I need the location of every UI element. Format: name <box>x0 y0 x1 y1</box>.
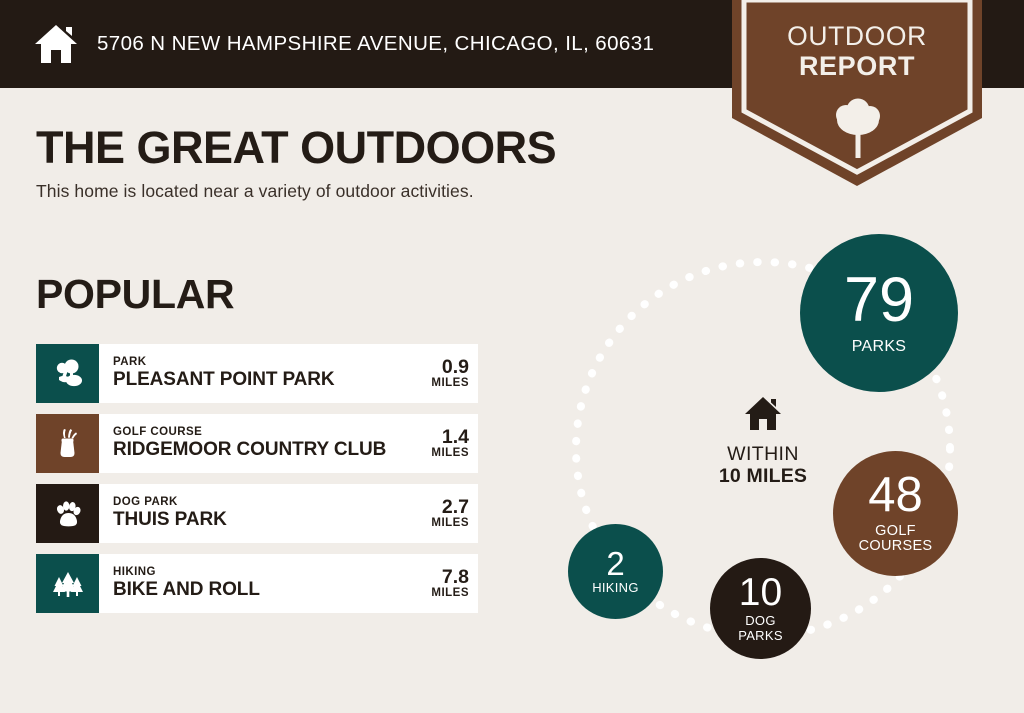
bubble-label-line1: GOLF <box>859 524 933 540</box>
list-item[interactable]: DOG PARK THUIS PARK 2.7 MILES <box>36 484 478 543</box>
bubble-label: GOLF COURSES <box>859 524 933 555</box>
bubble-hiking[interactable]: 2 HIKING <box>568 524 663 619</box>
list-item-distance: 7.8 MILES <box>409 567 469 600</box>
page-title: THE GREAT OUTDOORS <box>36 124 696 171</box>
intro-block: THE GREAT OUTDOORS This home is located … <box>36 124 696 202</box>
home-icon <box>743 394 783 432</box>
park-trees-icon <box>36 344 99 403</box>
list-item[interactable]: HIKING BIKE AND ROLL 7.8 MILES <box>36 554 478 613</box>
distance-value: 7.8 <box>415 567 469 587</box>
list-item-body: HIKING BIKE AND ROLL 7.8 MILES <box>99 554 478 613</box>
bubble-value: 10 <box>739 574 782 611</box>
bubble-value: 79 <box>844 271 914 331</box>
popular-list: PARK PLEASANT POINT PARK 0.9 MILES <box>36 344 478 624</box>
list-item-category: PARK <box>113 356 335 369</box>
popular-heading: POPULAR <box>36 271 234 318</box>
distance-value: 1.4 <box>415 427 469 447</box>
bubble-label: PARKS <box>852 338 907 355</box>
list-item-labels: PARK PLEASANT POINT PARK <box>113 356 335 391</box>
golf-bag-icon <box>36 414 99 473</box>
list-item-body: GOLF COURSE RIDGEMOOR COUNTRY CLUB 1.4 M… <box>99 414 478 473</box>
distance-value: 2.7 <box>415 497 469 517</box>
bubble-dog-parks[interactable]: 10 DOG PARKS <box>710 558 811 659</box>
bubble-label-line2: PARKS <box>738 629 783 643</box>
list-item[interactable]: GOLF COURSE RIDGEMOOR COUNTRY CLUB 1.4 M… <box>36 414 478 473</box>
page-subtitle: This home is located near a variety of o… <box>36 181 696 202</box>
distance-unit: MILES <box>415 447 469 460</box>
list-item-name: PLEASANT POINT PARK <box>113 369 335 391</box>
list-item-labels: HIKING BIKE AND ROLL <box>113 566 260 601</box>
diagram-center: WITHIN 10 MILES <box>668 394 858 488</box>
list-item-name: BIKE AND ROLL <box>113 579 260 601</box>
paw-print-icon <box>36 484 99 543</box>
list-item-category: GOLF COURSE <box>113 426 386 439</box>
bubble-label-line2: COURSES <box>859 539 933 555</box>
bubble-value: 48 <box>868 472 923 519</box>
center-label-miles: 10 MILES <box>668 466 858 488</box>
list-item-name: RIDGEMOOR COUNTRY CLUB <box>113 439 386 461</box>
bubble-value: 2 <box>606 548 624 579</box>
bubble-label: HIKING <box>592 581 639 595</box>
distance-unit: MILES <box>415 587 469 600</box>
home-icon <box>33 21 79 67</box>
list-item-labels: DOG PARK THUIS PARK <box>113 496 227 531</box>
center-label-within: WITHIN <box>668 444 858 466</box>
list-item[interactable]: PARK PLEASANT POINT PARK 0.9 MILES <box>36 344 478 403</box>
bubble-parks[interactable]: 79 PARKS <box>800 234 958 392</box>
list-item-distance: 0.9 MILES <box>409 357 469 390</box>
bubble-label-line1: DOG <box>738 614 783 628</box>
list-item-category: DOG PARK <box>113 496 227 509</box>
list-item-body: DOG PARK THUIS PARK 2.7 MILES <box>99 484 478 543</box>
list-item-body: PARK PLEASANT POINT PARK 0.9 MILES <box>99 344 478 403</box>
distance-value: 0.9 <box>415 357 469 377</box>
list-item-category: HIKING <box>113 566 260 579</box>
amenities-bubble-diagram: 79 PARKS 48 GOLF COURSES 10 DOG PARKS 2 … <box>528 226 1024 686</box>
list-item-distance: 2.7 MILES <box>409 497 469 530</box>
distance-unit: MILES <box>415 517 469 530</box>
property-address: 5706 N NEW HAMPSHIRE AVENUE, CHICAGO, IL… <box>97 32 654 56</box>
list-item-name: THUIS PARK <box>113 509 227 531</box>
list-item-distance: 1.4 MILES <box>409 427 469 460</box>
pine-trees-icon <box>36 554 99 613</box>
distance-unit: MILES <box>415 377 469 390</box>
outdoor-report-badge: OUTDOOR REPORT <box>732 0 982 186</box>
list-item-labels: GOLF COURSE RIDGEMOOR COUNTRY CLUB <box>113 426 386 461</box>
bubble-label: DOG PARKS <box>738 614 783 642</box>
